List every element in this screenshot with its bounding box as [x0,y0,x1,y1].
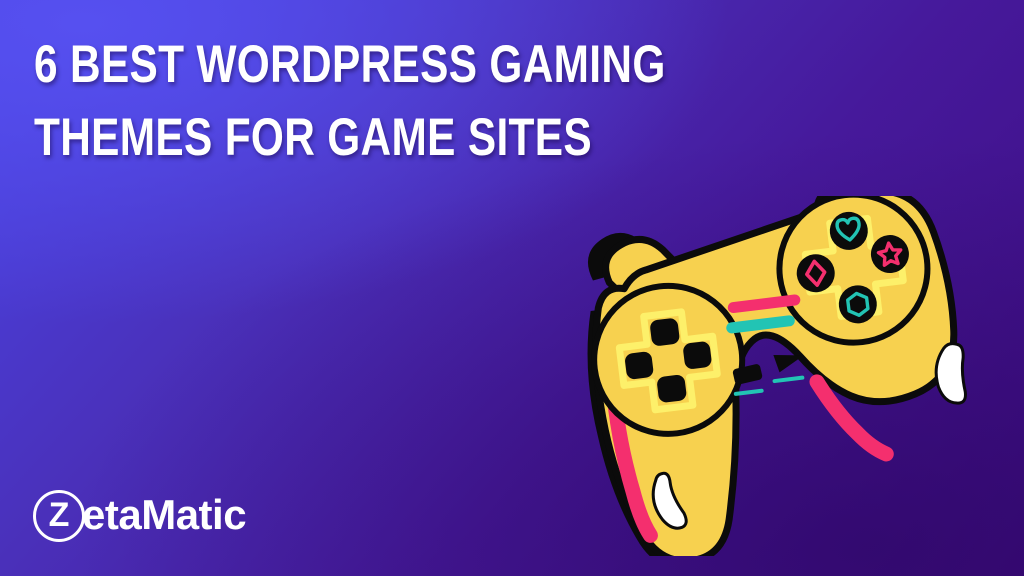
start-underline [775,378,803,381]
brand-logo[interactable]: Z etaMatic [33,486,246,546]
game-controller-illustration [548,196,1018,556]
page-title: 6 Best WordPress Gaming Themes for Game … [34,28,722,174]
logo-wordmark: etaMatic [82,494,246,539]
logo-letter-z: Z [33,490,85,542]
select-underline [736,391,762,394]
indicator-pink-bar [733,300,795,308]
indicator-teal-bar [732,321,790,328]
featured-image-canvas: 6 Best WordPress Gaming Themes for Game … [0,0,1024,576]
logo-circle-mark: Z [33,490,85,542]
